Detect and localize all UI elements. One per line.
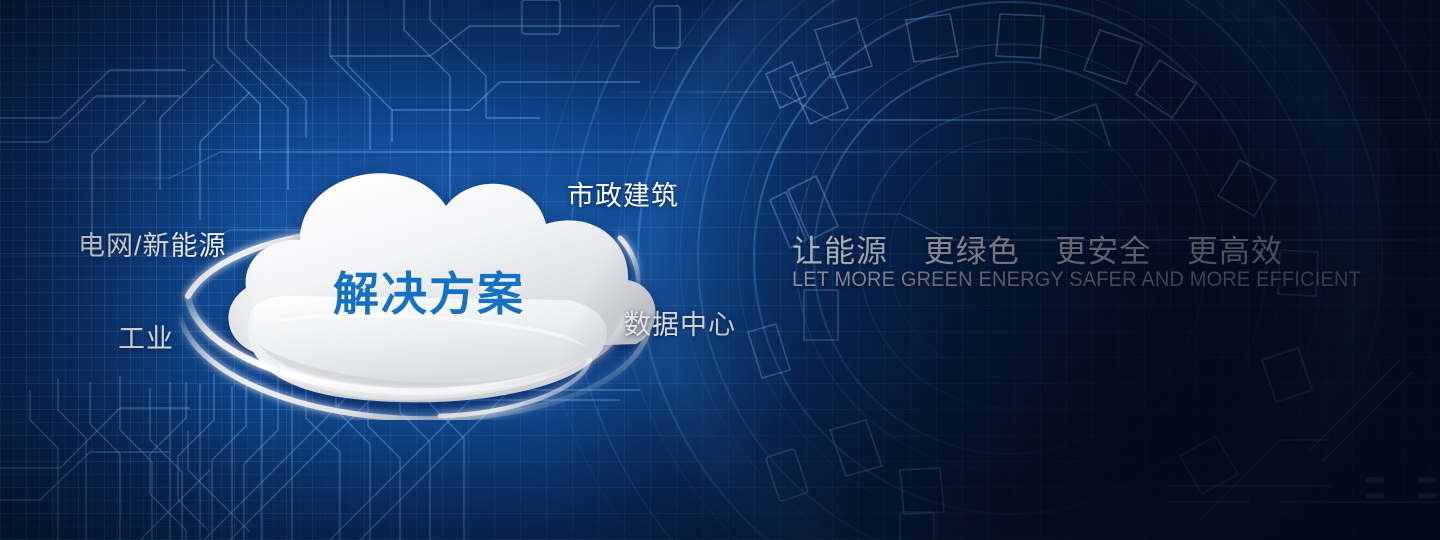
label-data-center[interactable]: 数据中心	[624, 303, 736, 342]
label-municipal-building[interactable]: 市政建筑	[567, 174, 679, 213]
tagline-chinese: 让能源 更绿色 更安全 更高效	[792, 226, 1283, 271]
tagline-english: LET MORE GREEN ENERGY SAFER AND MORE EFF…	[792, 268, 1361, 292]
label-industry[interactable]: 工业	[118, 317, 174, 356]
solution-banner: 电网/新能源 工业 市政建筑 数据中心 解决方案 让能源 更绿色 更安全 更高效…	[0, 0, 1440, 540]
tagline-part-2: 更绿色	[924, 234, 1020, 269]
tagline-part-3: 更安全	[1055, 234, 1151, 269]
tagline-part-1: 让能源	[792, 234, 888, 269]
tagline-part-4: 更高效	[1187, 234, 1283, 269]
label-grid-new-energy[interactable]: 电网/新能源	[78, 224, 227, 263]
cloud-title: 解决方案	[333, 258, 525, 324]
